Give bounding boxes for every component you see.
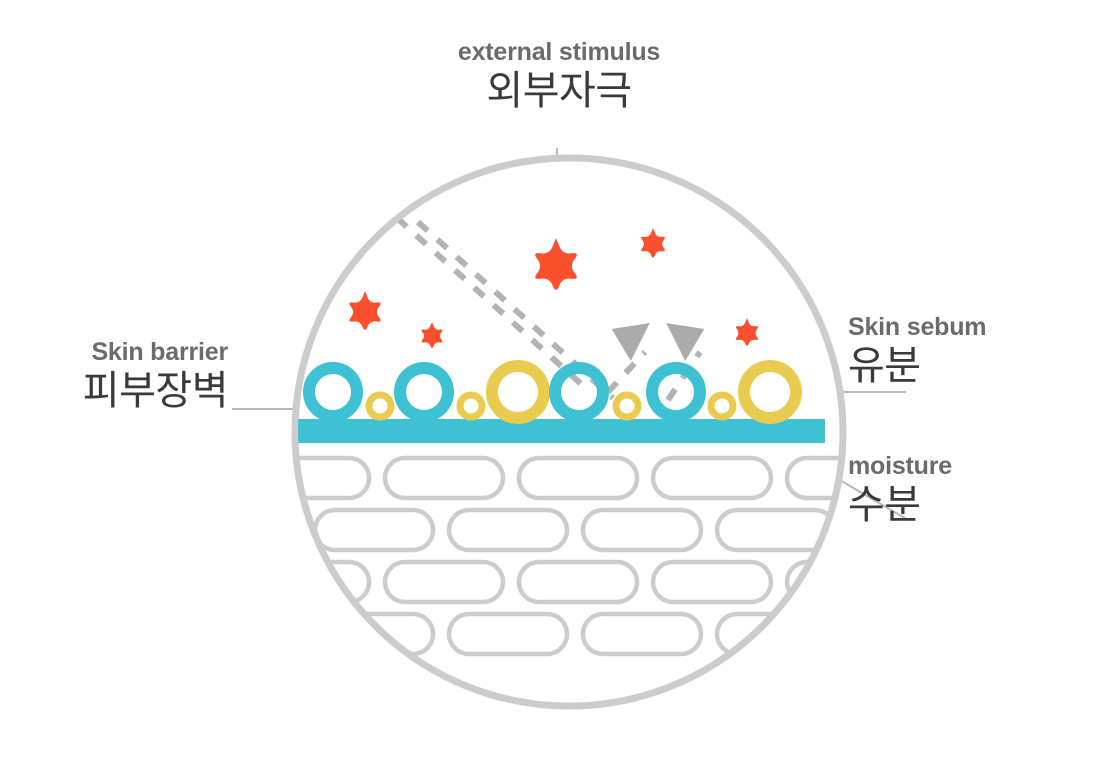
label-moisture-en: moisture: [848, 452, 1048, 481]
label-skin-barrier-en: Skin barrier: [18, 338, 228, 367]
skin-cell-brick: [851, 614, 969, 654]
label-skin-sebum-en: Skin sebum: [848, 313, 1048, 342]
skin-cell-brick: [985, 614, 1096, 654]
label-skin-sebum: Skin sebum 유분: [848, 313, 1048, 390]
label-external-stimulus: external stimulus 외부자극: [389, 38, 729, 115]
label-skin-sebum-ko: 유분: [848, 342, 1048, 390]
label-moisture: moisture 수분: [848, 452, 1048, 529]
skin-cell-brick: [1055, 458, 1096, 498]
label-moisture-ko: 수분: [848, 481, 1048, 529]
label-skin-barrier: Skin barrier 피부장벽: [18, 338, 228, 415]
skin-barrier-diagram: external stimulus 외부자극 Skin barrier 피부장벽…: [0, 0, 1096, 758]
label-external-stimulus-en: external stimulus: [389, 38, 729, 67]
skin-cell-brick: [1055, 562, 1096, 602]
skin-barrier-band: [295, 419, 825, 443]
skin-cell-brick: [921, 562, 1039, 602]
label-external-stimulus-ko: 외부자극: [389, 67, 729, 115]
label-skin-barrier-ko: 피부장벽: [18, 367, 228, 415]
